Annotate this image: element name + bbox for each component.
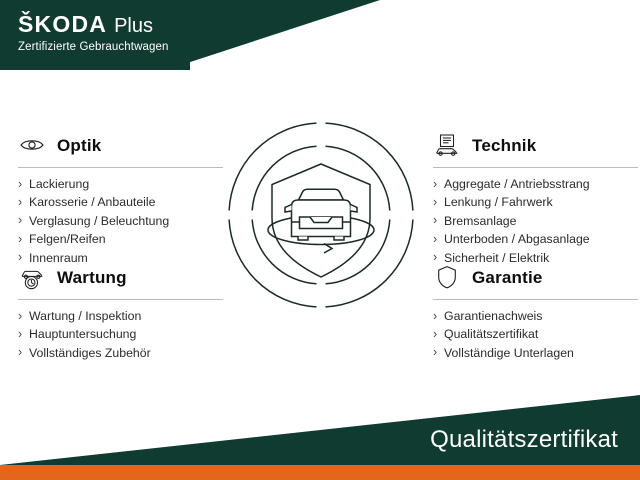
section-garantie-divider: [433, 299, 638, 300]
shield-icon: [433, 263, 461, 291]
brand-subtitle: Zertifizierte Gebrauchtwagen: [18, 41, 168, 53]
list-item: Felgen/Reifen: [18, 230, 223, 248]
list-item: Karosserie / Anbauteile: [18, 193, 223, 211]
list-item: Unterboden / Abgasanlage: [433, 230, 638, 248]
section-technik: Technik Aggregate / Antriebsstrang Lenku…: [433, 130, 638, 267]
list-item: Wartung / Inspektion: [18, 307, 223, 325]
brand-logo: ŠKODA Plus Zertifizierte Gebrauchtwagen: [18, 13, 168, 53]
section-wartung-list: Wartung / Inspektion Hauptuntersuchung V…: [18, 307, 223, 362]
list-item: Lackierung: [18, 175, 223, 193]
section-optik: Optik Lackierung Karosserie / Anbauteile…: [18, 130, 223, 267]
eye-icon: [18, 131, 46, 159]
footer-title: Qualitätszertifikat: [430, 426, 618, 454]
section-wartung-header: Wartung: [18, 262, 223, 292]
document-car-icon: [433, 131, 461, 159]
list-item: Vollständige Unterlagen: [433, 344, 638, 362]
section-technik-divider: [433, 167, 638, 168]
section-optik-title: Optik: [57, 137, 101, 154]
list-item: Qualitätszertifikat: [433, 325, 638, 343]
section-optik-divider: [18, 167, 223, 168]
brand-logo-row: ŠKODA Plus: [18, 13, 168, 36]
list-item: Lenkung / Fahrwerk: [433, 193, 638, 211]
list-item: Aggregate / Antriebsstrang: [433, 175, 638, 193]
section-technik-list: Aggregate / Antriebsstrang Lenkung / Fah…: [433, 175, 638, 267]
section-wartung-divider: [18, 299, 223, 300]
section-garantie-list: Garantienachweis Qualitätszertifikat Vol…: [433, 307, 638, 362]
section-optik-list: Lackierung Karosserie / Anbauteile Vergl…: [18, 175, 223, 267]
list-item: Bremsanlage: [433, 212, 638, 230]
footer-orange-bar: [0, 465, 640, 480]
car-service-clock-icon: [18, 263, 46, 291]
section-wartung-title: Wartung: [57, 269, 127, 286]
list-item: Verglasung / Beleuchtung: [18, 212, 223, 230]
section-technik-title: Technik: [472, 137, 536, 154]
certified-vehicle-emblem: [228, 122, 414, 313]
section-wartung: Wartung Wartung / Inspektion Hauptunters…: [18, 262, 223, 362]
brand-plus-label: Plus: [114, 16, 153, 36]
list-item: Vollständiges Zubehör: [18, 344, 223, 362]
list-item: Hauptuntersuchung: [18, 325, 223, 343]
section-optik-header: Optik: [18, 130, 223, 160]
section-technik-header: Technik: [433, 130, 638, 160]
brand-wordmark: ŠKODA: [18, 13, 107, 36]
emblem-car: [285, 189, 357, 240]
section-garantie-title: Garantie: [472, 269, 543, 286]
section-garantie-header: Garantie: [433, 262, 638, 292]
section-garantie: Garantie Garantienachweis Qualitätszerti…: [433, 262, 638, 362]
list-item: Garantienachweis: [433, 307, 638, 325]
